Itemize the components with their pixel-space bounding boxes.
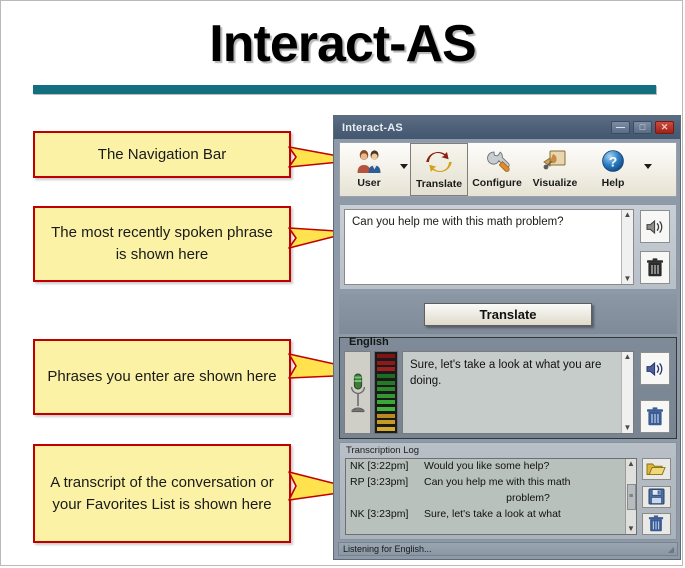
chevron-down-icon — [644, 164, 652, 169]
audio-level-segment — [377, 400, 395, 404]
scrollbar-thumb[interactable]: ≡ — [627, 484, 636, 510]
callout-transcript: A transcript of the conversation or your… — [33, 444, 291, 543]
scroll-up-icon: ▲ — [624, 210, 632, 220]
phrase-input-text: Can you help me with this math problem? — [345, 210, 571, 284]
callout-text: A transcript of the conversation or your… — [45, 472, 279, 516]
scroll-up-icon: ▲ — [627, 459, 635, 469]
trash-icon — [648, 515, 664, 533]
svg-text:?: ? — [609, 153, 618, 169]
save-icon — [648, 488, 665, 505]
close-button[interactable]: ✕ — [655, 121, 674, 134]
translate-strip: Translate — [339, 294, 677, 334]
audio-level-segment — [377, 394, 395, 398]
scroll-down-icon: ▼ — [624, 274, 632, 284]
transcription-scrollbar[interactable]: ▲ ≡ ▼ — [625, 459, 636, 534]
clear-phrase-button[interactable] — [640, 251, 670, 284]
trash-icon — [646, 407, 664, 427]
microphone-icon — [349, 370, 367, 416]
status-bar: Listening for English... ◢ — [338, 542, 678, 556]
transcription-panel: Transcription Log NK [3:22pm]Would you l… — [339, 442, 677, 540]
open-log-button[interactable] — [642, 458, 671, 480]
toolbar-item-user[interactable]: User — [340, 143, 398, 196]
transcription-row[interactable]: NK [3:22pm]Would you like some help? — [346, 459, 636, 475]
audio-level-meter — [374, 351, 398, 434]
toolbar-label-configure: Configure — [472, 177, 522, 189]
translate-button[interactable]: Translate — [424, 303, 592, 326]
scroll-up-icon: ▲ — [624, 352, 632, 362]
english-panel-legend: English — [346, 336, 392, 348]
toolbar-item-help[interactable]: ? Help — [584, 143, 642, 196]
translate-icon — [425, 147, 453, 177]
english-panel-buttons — [638, 351, 672, 434]
toolbar-label-user: User — [357, 177, 380, 189]
scroll-down-icon: ▼ — [627, 524, 635, 534]
transcription-row[interactable]: RP [3:23pm]Can you help me with this mat… — [346, 475, 636, 491]
title-divider — [33, 85, 656, 94]
input-panel: Can you help me with this math problem? … — [339, 204, 677, 290]
help-icon: ? — [600, 146, 626, 176]
clear-log-button[interactable] — [642, 513, 671, 535]
phrase-input-scrollbar[interactable]: ▲ ▼ — [621, 210, 633, 284]
speak-english-button[interactable] — [640, 352, 670, 385]
microphone-button[interactable] — [344, 351, 371, 434]
audio-level-segment — [377, 354, 395, 358]
transcription-speaker: RP [3:23pm] — [350, 476, 424, 490]
window-controls: — □ ✕ — [611, 121, 674, 134]
maximize-icon: □ — [640, 123, 645, 132]
page-title: Interact-AS — [0, 14, 685, 74]
audio-level-segment — [377, 374, 395, 378]
transcription-message: Can you help me with this math — [424, 476, 632, 490]
clear-english-button[interactable] — [640, 400, 670, 433]
audio-level-segment — [377, 414, 395, 418]
audio-level-segment — [377, 427, 395, 431]
transcription-buttons — [640, 458, 672, 535]
audio-level-segment — [377, 420, 395, 424]
toolbar-item-translate[interactable]: Translate — [410, 143, 468, 196]
toolbar-label-translate: Translate — [416, 178, 462, 190]
scroll-down-icon: ▼ — [624, 423, 632, 433]
status-text: Listening for English... — [343, 544, 432, 554]
resize-grip-icon: ◢ — [668, 545, 674, 554]
transcription-speaker — [350, 492, 424, 506]
audio-level-segment — [377, 381, 395, 385]
transcription-message: Sure, let's take a look at what — [424, 508, 632, 522]
toolbar-label-help: Help — [602, 177, 625, 189]
callout-text: The most recently spoken phrase is shown… — [45, 222, 279, 266]
callout-text: The Navigation Bar — [98, 144, 226, 166]
transcription-message: Would you like some help? — [424, 460, 632, 474]
toolbar-item-configure[interactable]: Configure — [468, 143, 526, 196]
save-log-button[interactable] — [642, 486, 671, 508]
chevron-down-icon — [400, 164, 408, 169]
english-output-text: Sure, let's take a look at what you are … — [403, 352, 633, 394]
phrase-input[interactable]: Can you help me with this math problem? … — [344, 209, 634, 285]
english-output[interactable]: Sure, let's take a look at what you are … — [402, 351, 634, 434]
window-title: Interact-AS — [342, 122, 403, 134]
close-icon: ✕ — [661, 123, 669, 132]
wrench-icon — [483, 146, 511, 176]
input-panel-buttons — [638, 209, 672, 285]
trash-icon — [646, 258, 664, 278]
callout-navigation-bar: The Navigation Bar — [33, 131, 291, 178]
interact-as-window: Interact-AS — □ ✕ — [333, 115, 681, 560]
transcription-label: Transcription Log — [346, 445, 676, 456]
users-icon — [354, 146, 384, 176]
audio-level-segment — [377, 361, 395, 365]
visualize-icon — [541, 146, 569, 176]
maximize-button[interactable]: □ — [633, 121, 652, 134]
toolbar-item-visualize[interactable]: Visualize — [526, 143, 584, 196]
transcription-speaker: NK [3:23pm] — [350, 508, 424, 522]
transcription-log[interactable]: NK [3:22pm]Would you like some help?RP [… — [345, 458, 637, 535]
audio-level-segment — [377, 367, 395, 371]
transcription-row[interactable]: NK [3:23pm]Sure, let's take a look at wh… — [346, 507, 636, 523]
callout-recent-phrase: The most recently spoken phrase is shown… — [33, 206, 291, 282]
minimize-button[interactable]: — — [611, 121, 630, 134]
toolbar-label-visualize: Visualize — [533, 177, 578, 189]
speaker-icon — [645, 360, 665, 378]
english-output-scrollbar[interactable]: ▲ ▼ — [621, 352, 633, 433]
user-dropdown-caret[interactable] — [398, 143, 410, 198]
transcription-speaker: NK [3:22pm] — [350, 460, 424, 474]
navigation-bar: User Translate Configure — [339, 142, 677, 197]
help-dropdown-caret[interactable] — [642, 143, 654, 198]
callout-text: Phrases you enter are shown here — [47, 366, 276, 388]
transcription-message: problem? — [424, 492, 632, 506]
speaker-icon — [645, 218, 665, 236]
minimize-icon: — — [616, 123, 625, 132]
transcription-row[interactable]: problem? — [346, 491, 636, 507]
audio-level-segment — [377, 387, 395, 391]
audio-level-segment — [377, 407, 395, 411]
english-panel: English Sure, let's take a look at what … — [339, 337, 677, 439]
open-folder-icon — [646, 461, 666, 477]
window-titlebar: Interact-AS — □ ✕ — [334, 116, 680, 139]
callout-entered-phrases: Phrases you enter are shown here — [33, 339, 291, 415]
speak-phrase-button[interactable] — [640, 210, 670, 243]
